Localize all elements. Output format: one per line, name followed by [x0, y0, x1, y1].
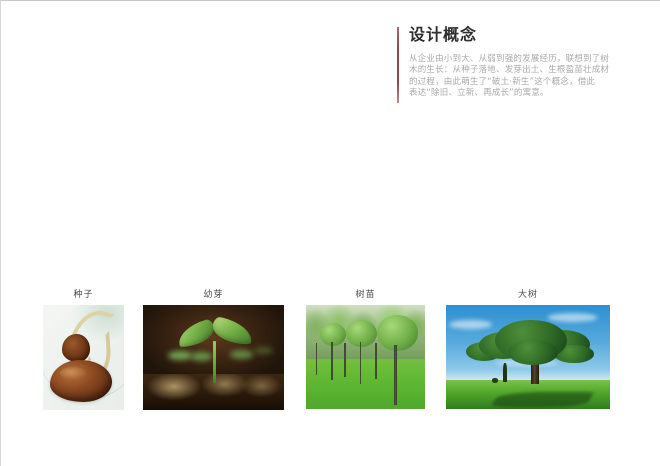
stage-seed: 种子 — [43, 289, 124, 394]
concept-line: 表达“除旧、立新、再成长”的寓意。 — [409, 88, 605, 99]
stage-sprout: 幼芽 — [143, 289, 284, 394]
sapling-rows-photo — [306, 305, 425, 409]
sprout-in-soil-photo — [143, 305, 284, 410]
accent-rule — [397, 27, 399, 103]
design-concept-block: 设计概念 从企业由小到大、从弱到强的发展经历，联想到了树 木的生长：从种子落地、… — [397, 25, 613, 100]
stage-label: 幼芽 — [143, 289, 284, 301]
concept-body: 设计概念 从企业由小到大、从弱到强的发展经历，联想到了树 木的生长：从种子落地、… — [409, 25, 613, 100]
slide-page: 设计概念 从企业由小到大、从弱到强的发展经历，联想到了树 木的生长：从种子落地、… — [0, 0, 660, 466]
lone-big-tree-photo — [446, 305, 610, 409]
stage-label: 树苗 — [306, 289, 425, 301]
stage-label: 种子 — [43, 289, 124, 301]
concept-paragraph: 从企业由小到大、从弱到强的发展经历，联想到了树 木的生长：从种子落地、发芽出土、… — [409, 54, 605, 100]
germinating-seed-photo — [43, 305, 124, 410]
stage-label: 大树 — [446, 289, 610, 301]
concept-line: 从企业由小到大、从弱到强的发展经历，联想到了树 — [409, 54, 605, 65]
stage-tree: 大树 — [446, 289, 610, 393]
concept-line: 木的生长：从种子落地、发芽出土、生根盈苗壮成材 — [409, 65, 605, 76]
concept-line: 的过程，由此萌生了“破土·新生”这个概念，借此 — [409, 77, 605, 88]
page-title: 设计概念 — [409, 25, 613, 45]
stage-sapling: 树苗 — [306, 289, 425, 393]
